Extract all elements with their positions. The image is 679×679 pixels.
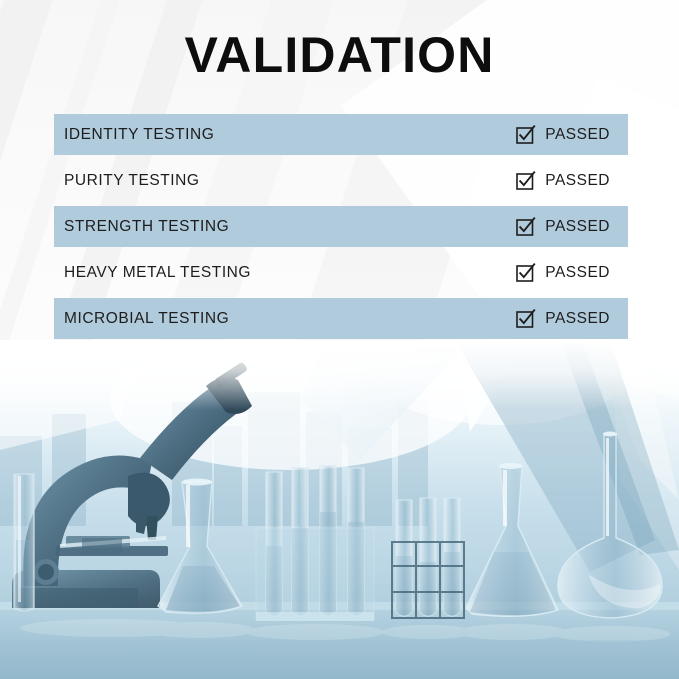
test-name-label: STRENGTH TESTING (54, 218, 229, 236)
validation-infographic: VALIDATION IDENTITY TESTING PASSED PURIT… (0, 0, 679, 679)
checkbox-checked-icon[interactable] (516, 125, 535, 144)
status-badge: PASSED (545, 172, 610, 190)
laboratory-photo (0, 340, 679, 679)
row-status: PASSED (516, 263, 610, 282)
test-tube-rack-wire-graphic (392, 498, 464, 618)
row-status: PASSED (516, 125, 610, 144)
checkbox-checked-icon[interactable] (516, 309, 535, 328)
table-row[interactable]: PURITY TESTING PASSED (54, 160, 628, 201)
checkbox-checked-icon[interactable] (516, 217, 535, 236)
test-name-label: IDENTITY TESTING (54, 126, 214, 144)
graduated-cylinder-graphic (14, 474, 34, 611)
status-badge: PASSED (545, 310, 610, 328)
checkbox-checked-icon[interactable] (516, 171, 535, 190)
status-badge: PASSED (545, 126, 610, 144)
page-title: VALIDATION (0, 27, 679, 83)
row-status: PASSED (516, 309, 610, 328)
table-row[interactable]: STRENGTH TESTING PASSED (54, 206, 628, 247)
validation-table: IDENTITY TESTING PASSED PURITY TESTING (54, 114, 628, 344)
table-row[interactable]: IDENTITY TESTING PASSED (54, 114, 628, 155)
table-row[interactable]: HEAVY METAL TESTING PASSED (54, 252, 628, 293)
test-name-label: PURITY TESTING (54, 172, 199, 190)
test-name-label: MICROBIAL TESTING (54, 310, 229, 328)
checkbox-checked-icon[interactable] (516, 263, 535, 282)
test-name-label: HEAVY METAL TESTING (54, 264, 251, 282)
row-status: PASSED (516, 171, 610, 190)
table-row[interactable]: MICROBIAL TESTING PASSED (54, 298, 628, 339)
row-status: PASSED (516, 217, 610, 236)
status-badge: PASSED (545, 218, 610, 236)
status-badge: PASSED (545, 264, 610, 282)
